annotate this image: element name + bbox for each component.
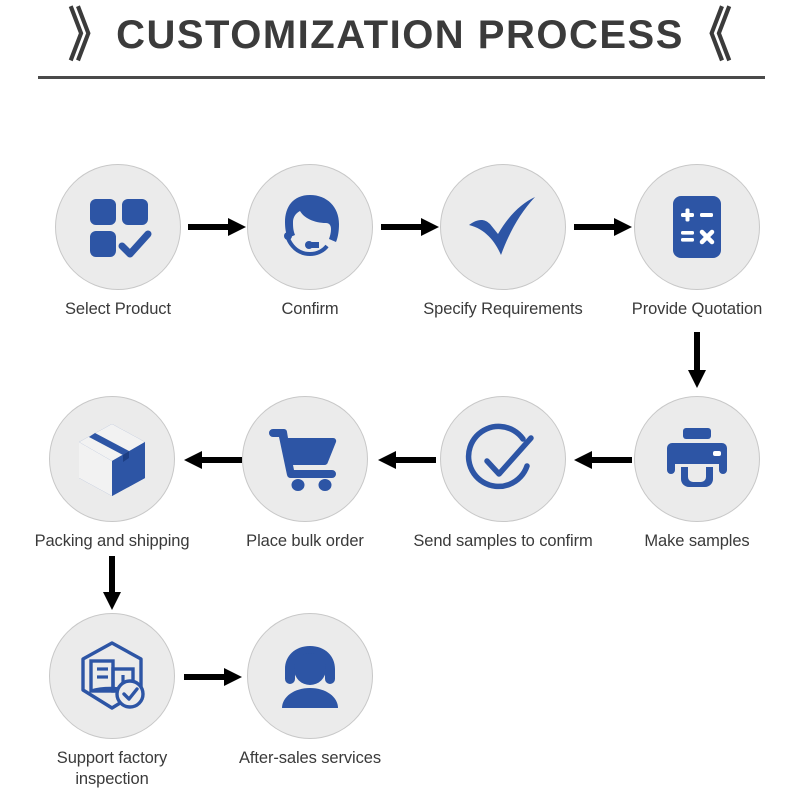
- flow-step-label: Support factory inspection: [22, 748, 202, 790]
- headset-person-icon: [272, 638, 348, 714]
- flow-step-label: Packing and shipping: [22, 531, 202, 552]
- flow-step-place-bulk-order[interactable]: Place bulk order: [215, 396, 395, 552]
- flow-step-label-line2: inspection: [75, 770, 148, 788]
- flow-step-support-factory-inspection[interactable]: Support factory inspection: [22, 613, 202, 790]
- flow-step-icon-circle: [247, 613, 373, 739]
- flow-step-send-samples-to-confirm[interactable]: Send samples to confirm: [413, 396, 593, 552]
- circle-check-icon: [465, 421, 541, 497]
- flow-step-icon-circle: [440, 164, 566, 290]
- shopping-cart-icon: [267, 421, 343, 497]
- page-title-text: CUSTOMIZATION PROCESS: [116, 13, 684, 58]
- printer-icon: [661, 423, 733, 495]
- flow-step-label: Send samples to confirm: [413, 531, 593, 552]
- flow-step-label: Select Product: [28, 299, 208, 320]
- flow-step-icon-circle: [49, 613, 175, 739]
- arrow-down-icon: [686, 332, 708, 388]
- flow-step-after-sales-services[interactable]: After-sales services: [220, 613, 400, 769]
- arrow-down-icon: [101, 556, 123, 610]
- flow-step-icon-circle: [634, 396, 760, 522]
- flow-step-icon-circle: [440, 396, 566, 522]
- flow-step-specify-requirements[interactable]: Specify Requirements: [413, 164, 593, 320]
- chevron-left-double-icon: 《: [686, 6, 732, 64]
- flow-step-icon-circle: [55, 164, 181, 290]
- flow-step-label: Provide Quotation: [607, 299, 787, 320]
- flow-step-label-line1: Support factory: [57, 749, 167, 767]
- flow-step-provide-quotation[interactable]: Provide Quotation: [607, 164, 787, 320]
- chevron-right-double-icon: 》: [68, 6, 114, 64]
- flow-step-make-samples[interactable]: Make samples: [607, 396, 787, 552]
- support-agent-icon: [271, 188, 349, 266]
- page-title: 》CUSTOMIZATION PROCESS《: [0, 12, 800, 58]
- calculator-icon: [662, 192, 732, 262]
- flow-step-label: Place bulk order: [215, 531, 395, 552]
- flow-step-confirm[interactable]: Confirm: [220, 164, 400, 320]
- box-icon: [73, 420, 151, 498]
- header-divider: [38, 76, 765, 79]
- flow-step-label: Confirm: [220, 299, 400, 320]
- grid-check-icon: [82, 191, 154, 263]
- flow-step-packing-and-shipping[interactable]: Packing and shipping: [22, 396, 202, 552]
- flow-step-label: Make samples: [607, 531, 787, 552]
- flow-step-icon-circle: [242, 396, 368, 522]
- flow-step-icon-circle: [49, 396, 175, 522]
- flow-step-icon-circle: [247, 164, 373, 290]
- flow-step-label: Specify Requirements: [413, 299, 593, 320]
- factory-inspection-icon: [74, 638, 150, 714]
- page-header: 》CUSTOMIZATION PROCESS《: [0, 0, 800, 95]
- flow-step-label: After-sales services: [220, 748, 400, 769]
- flow-step-icon-circle: [634, 164, 760, 290]
- flow-step-select-product[interactable]: Select Product: [28, 164, 208, 320]
- checkmark-icon: [465, 189, 541, 265]
